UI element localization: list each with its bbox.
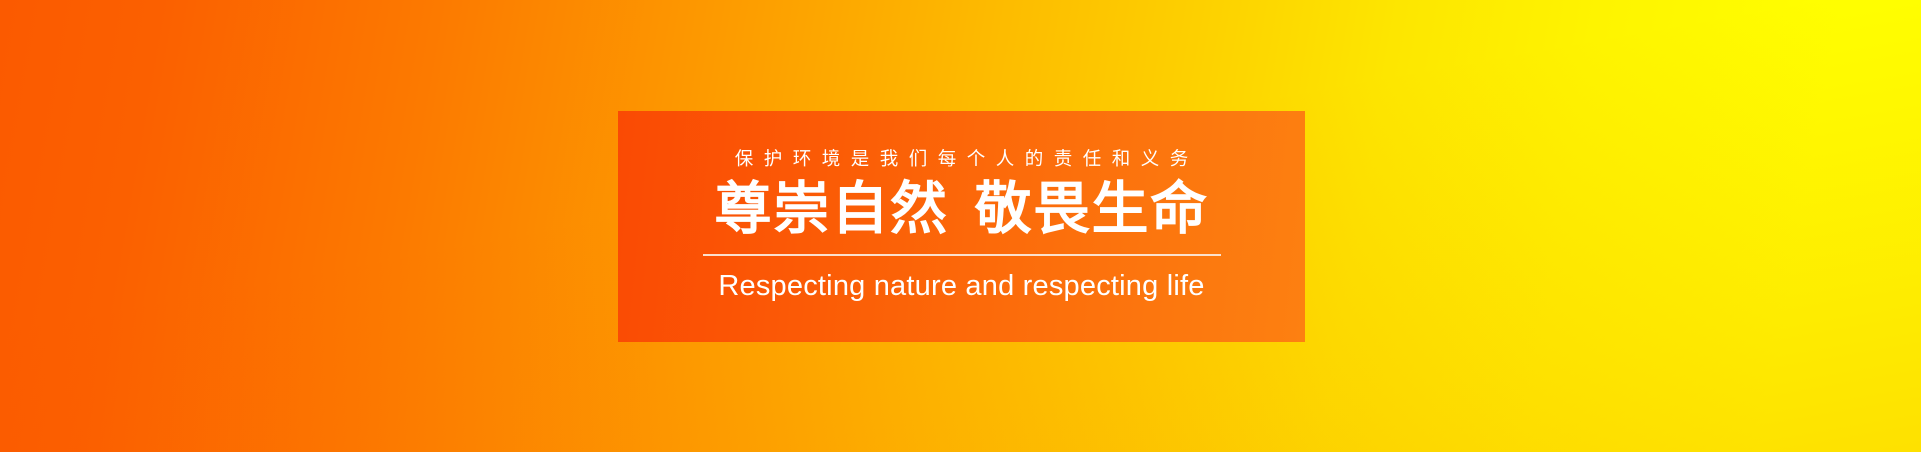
headline-part-two: 敬畏生命 (975, 179, 1209, 241)
headline-part-one: 尊崇自然 (715, 179, 949, 241)
slogan-panel: 保护环境是我们每个人的责任和义务 尊崇自然 敬畏生命 Respecting na… (618, 111, 1305, 342)
divider-rule (703, 254, 1221, 256)
headline-text: 尊崇自然 敬畏生命 (715, 179, 1209, 241)
subtitle-text: Respecting nature and respecting life (718, 269, 1204, 304)
banner-root: 保护环境是我们每个人的责任和义务 尊崇自然 敬畏生命 Respecting na… (0, 0, 1921, 452)
tagline-text: 保护环境是我们每个人的责任和义务 (724, 149, 1199, 169)
